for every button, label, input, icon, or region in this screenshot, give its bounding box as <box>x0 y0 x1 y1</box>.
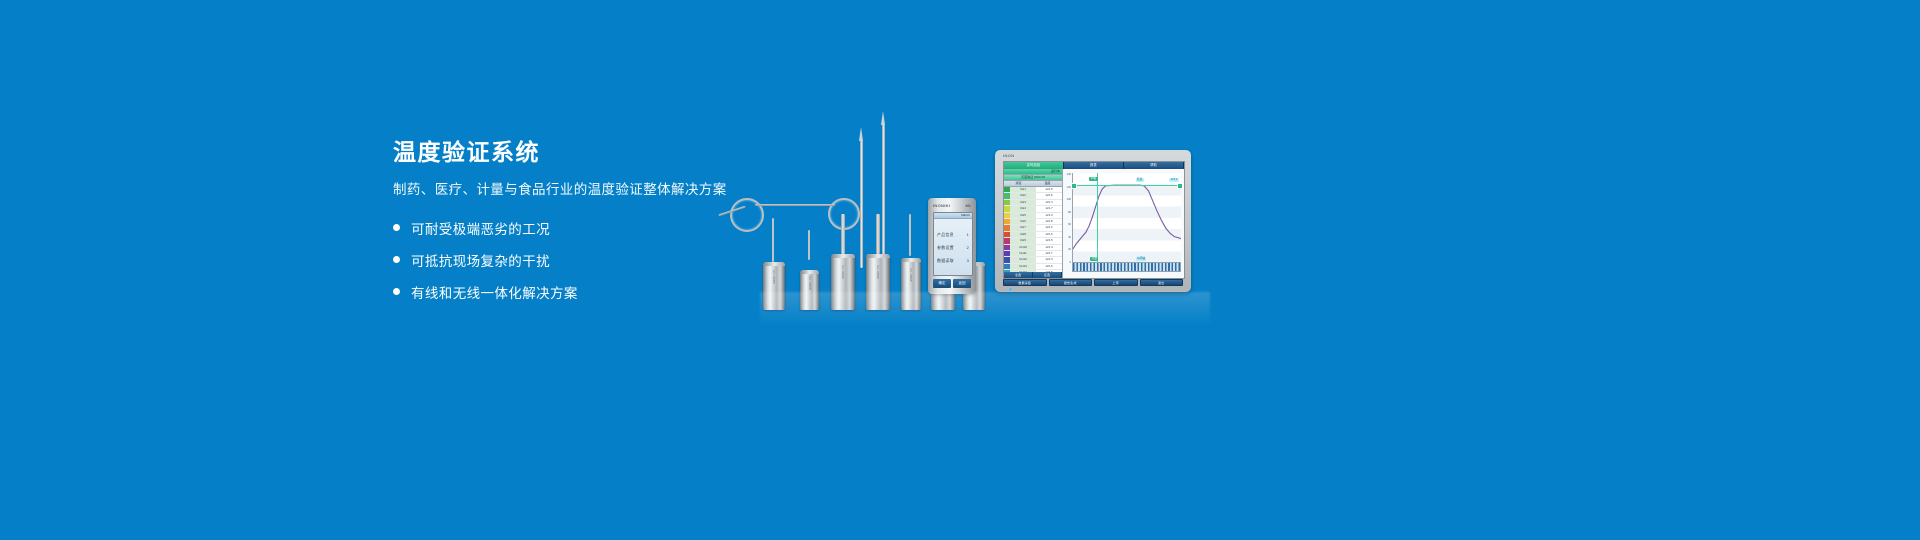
logger-label: VL-3000 <box>876 265 880 278</box>
tab-help[interactable]: 帮助 <box>1124 162 1184 169</box>
cursor-marker-line <box>1097 173 1098 263</box>
bullet-dot-icon <box>393 288 400 295</box>
power-led-icon <box>1009 288 1012 291</box>
menu-item[interactable]: 产品信息 1 <box>937 232 969 238</box>
y-axis-tick-label: 20 <box>1063 248 1071 251</box>
marker-handle-left[interactable] <box>1071 183 1077 189</box>
tab-realtime-curve[interactable]: 实时曲线 <box>1004 162 1064 169</box>
channel-name-cell: CH10 <box>1010 245 1036 250</box>
channel-name-cell: CH8 <box>1010 232 1036 237</box>
menu-item[interactable]: 数据读取 3 <box>937 258 969 264</box>
setpoint-marker-line <box>1073 185 1181 186</box>
axis-marker-tag: 时间轴 <box>1136 257 1147 261</box>
channel-name-cell: CH5 <box>1010 213 1036 218</box>
channel-name-cell: CH2 <box>1010 193 1036 198</box>
sterilization-curve-line <box>1073 173 1181 263</box>
handheld-brand-label: INONIKI <box>933 203 950 208</box>
channel-name-cell: CH13 <box>1010 264 1036 269</box>
column-header-temp: 温度 <box>1033 181 1062 186</box>
channel-table-body[interactable]: CH1121.5CH2121.6CH3121.4CH4121.7CH5121.3… <box>1004 187 1062 272</box>
channel-value-cell: 121.8 <box>1036 219 1062 224</box>
back-button[interactable]: 返回 <box>953 279 971 288</box>
channel-value-cell: 121.7 <box>1036 206 1062 211</box>
chart-plot-area: F0值 开始 结束 121.1 时间轴 <box>1072 173 1181 264</box>
y-axis-tick-label: 80 <box>1063 211 1071 214</box>
menu-item-value: 3 <box>967 258 969 264</box>
confirm-button[interactable]: 确定 <box>933 279 951 288</box>
channel-name-cell: CH7 <box>1010 225 1036 230</box>
channel-value-cell: 121.7 <box>1036 251 1062 256</box>
channel-name-cell: CH6 <box>1010 219 1036 224</box>
channel-value-cell: 121.5 <box>1036 187 1062 192</box>
column-header-channel: 通道 <box>1004 181 1033 186</box>
handheld-reader[interactable]: INONIKI M1 MENU 产品信息 1 参数设置 2 数据读取 3 <box>928 198 976 294</box>
channel-value-cell: 121.3 <box>1036 213 1062 218</box>
needle-probe-icon <box>860 140 863 268</box>
menu-item-value: 2 <box>967 245 969 251</box>
sensor-cable-icon <box>755 204 835 206</box>
monitor-brand-label: INON <box>1003 153 1015 158</box>
data-logger-probe: VL-3000 <box>831 254 855 310</box>
data-logger-probe: VL-3000 <box>901 258 921 310</box>
menu-item-label: 参数设置 <box>937 245 954 251</box>
channel-name-cell: CH4 <box>1010 206 1036 211</box>
collect-data-button[interactable]: 数据采集 <box>1003 279 1047 286</box>
sensor-stem-icon <box>841 214 845 254</box>
data-logger-probe: VL-3000 <box>763 262 785 310</box>
y-axis-tick-label: 60 <box>1063 223 1071 226</box>
bottom-marker-tag: 开始 <box>1090 257 1098 261</box>
logger-label: VL-3000 <box>841 265 845 278</box>
bullet-dot-icon <box>393 256 400 263</box>
app-body: 运行中 灭菌验证 2023-05 通道 温度 CH1121.5CH2121.6C… <box>1004 169 1184 278</box>
temperature-chart: 140120100806040200 F0值 开始 结束 <box>1063 169 1184 278</box>
monitor-toolbar: 数据采集 报告生成 上传 退出 <box>1003 279 1183 286</box>
exit-button[interactable]: 退出 <box>1140 279 1184 286</box>
channel-value-cell: 121.5 <box>1036 238 1062 243</box>
bullet-dot-icon <box>393 224 400 231</box>
logger-label: VL-3000 <box>909 268 913 281</box>
right-marker-tag: 121.1 <box>1169 178 1179 182</box>
temperature-validation-banner: 温度验证系统 制药、医疗、计量与食品行业的温度验证整体解决方案 可耐受极端恶劣的… <box>0 0 1920 540</box>
select-all-button[interactable]: 全选 <box>1004 272 1033 278</box>
y-axis-tick-label: 100 <box>1063 198 1071 201</box>
sensor-stem-icon <box>876 214 880 254</box>
channel-value-cell: 121.6 <box>1036 232 1062 237</box>
channel-value-cell: 121.6 <box>1036 193 1062 198</box>
table-footer: 全选 反选 <box>1004 272 1062 278</box>
y-axis-tick-label: 0 <box>1063 261 1071 264</box>
feature-label: 可耐受极端恶劣的工况 <box>411 218 550 238</box>
tab-report[interactable]: 报表 <box>1064 162 1124 169</box>
menu-item-label: 产品信息 <box>937 232 954 238</box>
logger-label: VL-3000 <box>808 276 812 289</box>
sensor-stem-icon <box>808 230 810 260</box>
marker-handle-right[interactable] <box>1177 183 1183 189</box>
needle-probe-icon <box>882 124 885 268</box>
handheld-screen: MENU 产品信息 1 参数设置 2 数据读取 3 <box>933 212 973 276</box>
generate-report-button[interactable]: 报告生成 <box>1049 279 1093 286</box>
menu-item-value: 1 <box>967 232 969 238</box>
app-tab-bar: 实时曲线 报表 帮助 <box>1004 162 1184 169</box>
channel-name-cell: CH11 <box>1010 251 1036 256</box>
feature-label: 有线和无线一体化解决方案 <box>411 282 578 302</box>
channel-value-cell: 121.3 <box>1036 257 1062 262</box>
y-axis-tick-label: 40 <box>1063 236 1071 239</box>
channel-name-cell: CH12 <box>1010 257 1036 262</box>
mid-marker-tag: 结束 <box>1136 178 1144 182</box>
product-photo-group: VL-3000 VL-3000 VL-3000 VL-3000 VL-3000 … <box>700 110 1240 310</box>
feature-label: 可抵抗现场复杂的干扰 <box>411 250 550 270</box>
channel-name-cell: CH9 <box>1010 238 1036 243</box>
chart-x-axis-scrollbar[interactable] <box>1072 262 1181 272</box>
data-logger-probe: VL-3000 <box>866 254 890 310</box>
handheld-menu: 产品信息 1 参数设置 2 数据读取 3 <box>934 219 972 264</box>
upload-button[interactable]: 上传 <box>1094 279 1138 286</box>
menu-item[interactable]: 参数设置 2 <box>937 245 969 251</box>
logger-label: VL-3000 <box>772 271 776 284</box>
handheld-model-label: M1 <box>965 203 971 208</box>
top-marker-tag: F0值 <box>1089 177 1098 181</box>
invert-selection-button[interactable]: 反选 <box>1033 272 1062 278</box>
y-axis-tick-label: 120 <box>1063 186 1071 189</box>
channel-value-cell: 121.6 <box>1036 264 1062 269</box>
channel-name-cell: CH3 <box>1010 200 1036 205</box>
menu-item-label: 数据读取 <box>937 258 954 264</box>
handheld-keypad: 确定 返回 <box>933 279 971 288</box>
monitor-workstation: INON 实时曲线 报表 帮助 运行中 灭菌验证 2023-05 通道 温度 <box>995 150 1191 292</box>
channel-data-panel: 运行中 灭菌验证 2023-05 通道 温度 CH1121.5CH2121.6C… <box>1004 169 1063 278</box>
y-axis-tick-label: 140 <box>1063 173 1071 176</box>
channel-name-cell: CH1 <box>1010 187 1036 192</box>
sensor-stem-icon <box>772 218 774 262</box>
channel-value-cell: 121.2 <box>1036 225 1062 230</box>
data-logger-probe: VL-3000 <box>800 270 819 310</box>
channel-value-cell: 121.4 <box>1036 245 1062 250</box>
channel-value-cell: 121.4 <box>1036 200 1062 205</box>
sensor-stem-icon <box>909 214 911 256</box>
monitor-screen: 实时曲线 报表 帮助 运行中 灭菌验证 2023-05 通道 温度 CH1121… <box>1003 161 1185 279</box>
